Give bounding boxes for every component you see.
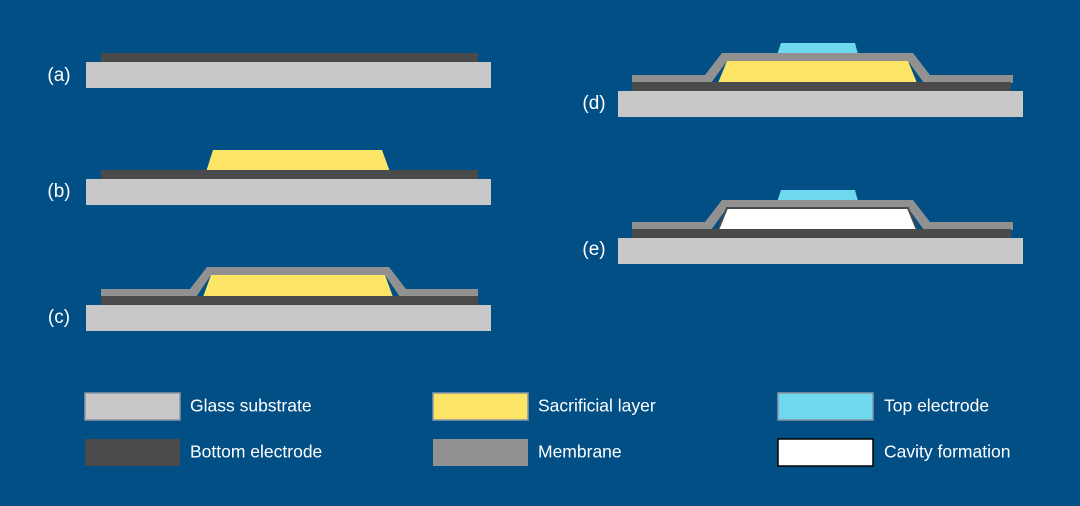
legend-label-cavity-formation: Cavity formation: [884, 442, 1010, 462]
panel-e-label: (e): [582, 239, 605, 260]
panel-c-label: (c): [48, 307, 70, 328]
panel-c-bottom-electrode: [101, 296, 478, 306]
panel-b-bottom-electrode: [101, 170, 478, 180]
legend-label-sacrificial-layer: Sacrificial layer: [538, 396, 656, 416]
panel-a-glass-substrate: [86, 62, 491, 88]
panel-c-glass-substrate: [86, 305, 491, 331]
panel-a-bottom-electrode: [101, 53, 478, 63]
panel-c-sacrificial-layer: [203, 275, 393, 297]
process-flow-diagram: (a) (b) (c): [0, 0, 1080, 506]
legend-label-bottom-electrode: Bottom electrode: [190, 442, 322, 462]
panel-b-label: (b): [47, 181, 70, 202]
legend-swatch-top-electrode: [778, 393, 873, 420]
panel-b-sacrificial-layer: [206, 150, 390, 172]
legend-label-top-electrode: Top electrode: [884, 396, 989, 416]
panel-b-glass-substrate: [86, 179, 491, 205]
legend-label-membrane: Membrane: [538, 442, 622, 462]
legend-swatch-membrane: [433, 439, 528, 466]
panel-e-bottom-electrode: [632, 229, 1011, 239]
legend-label-glass-substrate: Glass substrate: [190, 396, 312, 416]
panel-e-glass-substrate: [618, 238, 1023, 264]
panel-d-glass-substrate: [618, 91, 1023, 117]
panel-d-sacrificial-layer: [718, 61, 917, 83]
legend-swatch-bottom-electrode: [85, 439, 180, 466]
panel-a-label: (a): [47, 65, 70, 86]
legend-swatch-glass-substrate: [85, 393, 180, 420]
panel-d-bottom-electrode: [632, 82, 1011, 92]
figure-canvas: (a) (b) (c): [0, 0, 1080, 506]
panel-e-cavity-formation: [718, 208, 917, 230]
legend-swatch-sacrificial-layer: [433, 393, 528, 420]
legend-swatch-cavity-formation: [778, 439, 873, 466]
panel-d-label: (d): [582, 93, 605, 114]
panel-a: (a): [47, 53, 491, 88]
